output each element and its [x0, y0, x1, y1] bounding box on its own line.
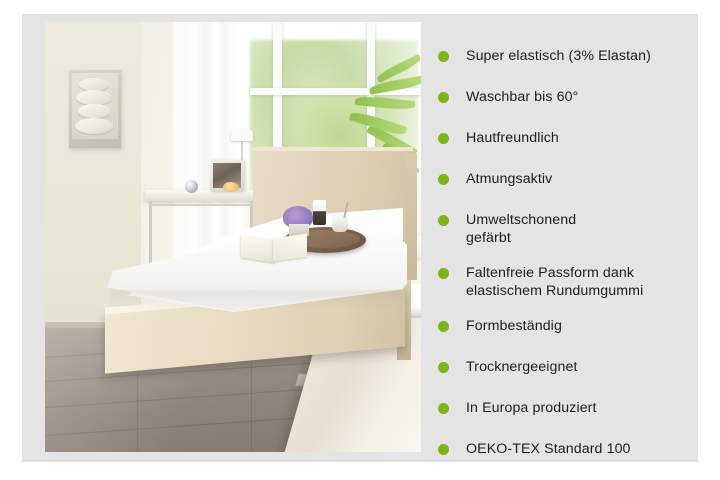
panel-divider [22, 460, 698, 461]
feature-label: Super elastisch (3% Elastan) [466, 48, 651, 66]
bullet-dot-icon [438, 92, 449, 103]
bullet-dot-icon [438, 444, 449, 455]
stone-icon [78, 104, 111, 118]
feature-label: Hautfreundlich [466, 130, 559, 148]
side-table-top [145, 190, 263, 201]
feature-item-8: Trocknergeeignet [438, 359, 690, 377]
bullet-dot-icon [438, 133, 449, 144]
feature-label: In Europa produziert [466, 400, 597, 418]
product-feature-graphic: Super elastisch (3% Elastan) Waschbar bi… [0, 0, 720, 480]
bullet-dot-icon [438, 51, 449, 62]
open-book-right-page [273, 234, 307, 262]
side-table-rail [149, 204, 253, 206]
feature-item-5: Umweltschonend gefärbt [438, 212, 690, 247]
feature-item-9: In Europa produziert [438, 400, 690, 418]
feature-label: Atmungsaktiv [466, 171, 552, 189]
bullet-dot-icon [438, 215, 449, 226]
table-lamp-shade [231, 130, 253, 141]
product-photo [45, 22, 421, 452]
feature-list: Super elastisch (3% Elastan) Waschbar bi… [438, 36, 690, 434]
bullet-dot-icon [438, 174, 449, 185]
feature-item-1: Super elastisch (3% Elastan) [438, 48, 690, 66]
feature-label: Trocknergeeignet [466, 359, 577, 377]
feature-item-3: Hautfreundlich [438, 130, 690, 148]
decorative-glass [223, 182, 239, 192]
feature-item-10: OEKO-TEX Standard 100 [438, 441, 690, 459]
candle [313, 200, 326, 225]
bed-headboard-edge [253, 147, 413, 151]
feature-label: Waschbar bis 60° [466, 89, 578, 107]
mattress-shadow [111, 290, 403, 308]
bullet-dot-icon [438, 268, 449, 279]
feature-item-6: Faltenfreie Passform dank elastischem Ru… [438, 265, 690, 300]
feature-label: Faltenfreie Passform dank elastischem Ru… [466, 265, 643, 300]
bullet-dot-icon [438, 403, 449, 414]
feature-label: Umweltschonend gefärbt [466, 212, 576, 247]
feature-item-2: Waschbar bis 60° [438, 89, 690, 107]
decorative-ball [185, 180, 198, 193]
stone-icon [75, 118, 113, 134]
bullet-dot-icon [438, 362, 449, 373]
feature-item-4: Atmungsaktiv [438, 171, 690, 189]
feature-label: Formbeständig [466, 318, 562, 336]
feature-label: OEKO-TEX Standard 100 [466, 441, 631, 459]
feature-item-7: Formbeständig [438, 318, 690, 336]
stone-icon [76, 90, 112, 105]
bullet-dot-icon [438, 321, 449, 332]
